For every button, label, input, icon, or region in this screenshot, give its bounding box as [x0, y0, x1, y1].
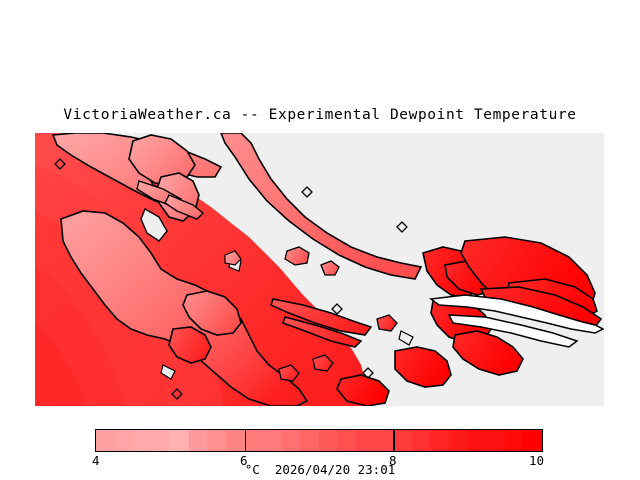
colorbar-band — [523, 430, 542, 451]
colorbar-bands — [96, 430, 542, 451]
colorbar-band — [170, 430, 189, 451]
dewpoint-contour-map[interactable] — [35, 133, 604, 406]
map-panel[interactable] — [35, 133, 604, 406]
colorbar-band — [468, 430, 487, 451]
colorbar-band — [282, 430, 301, 451]
colorbar-band — [412, 430, 431, 451]
colorbar-band — [189, 430, 208, 451]
weather-map-page: VictoriaWeather.ca -- Experimental Dewpo… — [0, 0, 640, 480]
colorbar-band — [96, 430, 115, 451]
colorbar-band — [300, 430, 319, 451]
colorbar-band — [393, 430, 412, 451]
colorbar-tick-8 — [393, 430, 395, 451]
colorbar-band — [356, 430, 375, 451]
colorbar-band — [505, 430, 524, 451]
colorbar-band — [375, 430, 394, 451]
page-title: VictoriaWeather.ca -- Experimental Dewpo… — [0, 107, 640, 123]
colorbar-band — [338, 430, 357, 451]
colorbar-band — [263, 430, 282, 451]
colorbar-band — [152, 430, 171, 451]
colorbar-band — [133, 430, 152, 451]
colorbar-band — [486, 430, 505, 451]
colorbar-band — [245, 430, 264, 451]
colorbar-band — [226, 430, 245, 451]
colorbar-band — [115, 430, 134, 451]
colorbar[interactable] — [95, 429, 543, 452]
colorbar-tick-6 — [245, 430, 247, 451]
colorbar-band — [207, 430, 226, 451]
colorbar-band — [319, 430, 338, 451]
colorbar-band — [449, 430, 468, 451]
colorbar-units-timestamp: °C 2026/04/20 23:01 — [0, 462, 640, 477]
colorbar-band — [430, 430, 449, 451]
